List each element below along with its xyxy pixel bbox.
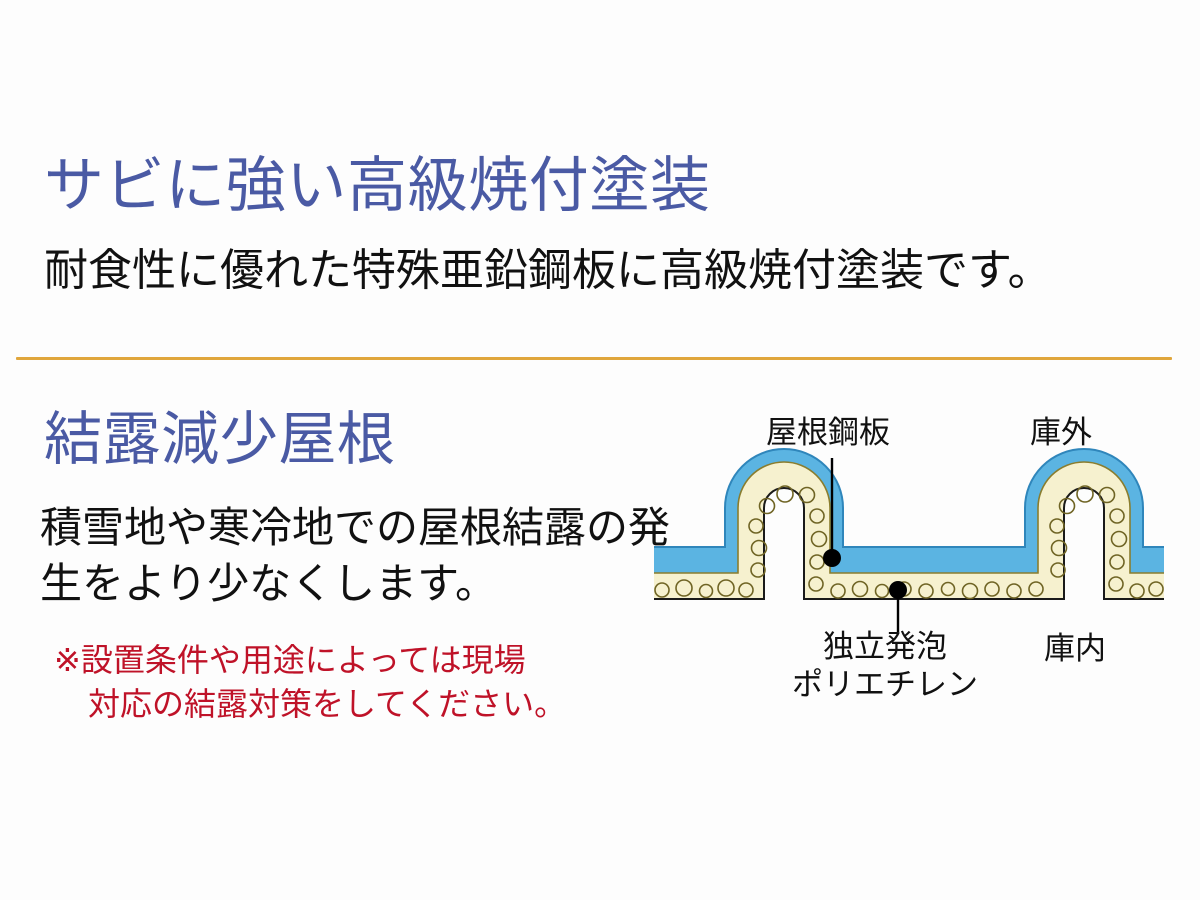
section-one-heading: サビに強い高級焼付塗装 [44,150,711,222]
leader-dot-roof-steel [823,549,841,567]
diagram-label-inside: 庫内 [1044,630,1106,668]
roof-cross-section-diagram: 屋根鋼板 庫外 庫内 独立発泡 ポリエチレン [640,400,1180,760]
note-line-2: 対応の結露対策をしてください。 [54,682,654,726]
section-two-heading: 結露減少屋根 [44,405,395,475]
diagram-label-foam-line-2: ポリエチレン [792,666,978,704]
leader-foam [889,581,907,632]
section-two-body: 積雪地や寒冷地での屋根結露の発生をより少なくします。 [40,500,680,612]
section-divider [16,357,1172,360]
diagram-label-foam: 独立発泡 ポリエチレン [792,628,978,704]
section-two-note: ※設置条件や用途によっては現場 対応の結露対策をしてください。 [54,638,654,726]
diagram-label-foam-line-1: 独立発泡 [823,629,947,664]
diagram-label-outside: 庫外 [1030,414,1092,452]
diagram-label-roof-steel: 屋根鋼板 [766,414,890,452]
roof-cross-section-svg [640,400,1180,760]
note-line-1: ※設置条件や用途によっては現場 [54,642,526,678]
section-one-body: 耐食性に優れた特殊亜鉛鋼板に高級焼付塗装です。 [44,243,1052,299]
slide-page: サビに強い高級焼付塗装 耐食性に優れた特殊亜鉛鋼板に高級焼付塗装です。 結露減少… [0,0,1200,900]
